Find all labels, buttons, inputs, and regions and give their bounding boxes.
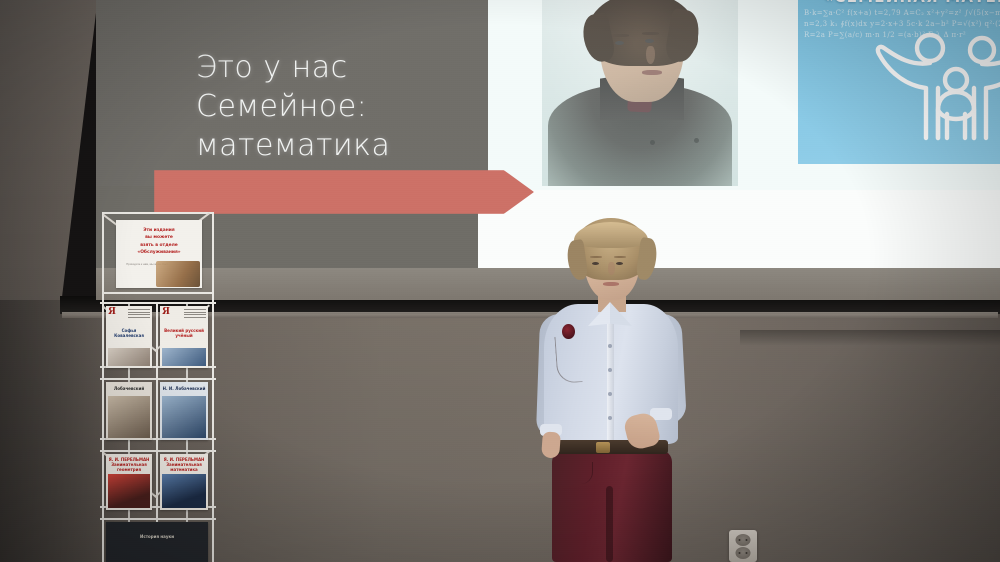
rack-sign-line-2: вы можете xyxy=(116,234,202,241)
presenter-shirt-placket xyxy=(607,318,614,444)
presenter-eye-left xyxy=(592,262,599,265)
presenter-shirt-button-2 xyxy=(608,368,612,372)
rack-rail-4 xyxy=(100,378,216,380)
rack-sign-text: Эти издания вы можете взять в отделе «Об… xyxy=(116,227,202,257)
presenter xyxy=(510,218,710,562)
blue-panel-heading: «СЕМЕЙНАЯ МАТЕМАТИКА» xyxy=(798,0,1000,6)
slide-title-line-2: Семейное: xyxy=(196,87,496,126)
brochure-image xyxy=(162,348,206,366)
brochure-item[interactable]: Я Великий русский учёный xyxy=(160,306,208,368)
brochure-title: Н. И. Лобачевский xyxy=(162,386,206,391)
brochure-image xyxy=(162,396,206,438)
brochure-image xyxy=(108,474,150,508)
rack-rail-8 xyxy=(100,518,216,520)
portrait-projection-wash xyxy=(542,0,738,186)
power-socket[interactable] xyxy=(729,530,757,562)
brochure-title: Лобачевский xyxy=(108,386,150,391)
brochure-text-lines xyxy=(184,309,206,319)
slide-title-line-1: Это у нас xyxy=(196,48,496,87)
rack-post-right xyxy=(212,212,214,562)
brochure-image xyxy=(162,474,206,508)
rack-rail-2 xyxy=(100,302,216,304)
rack-sign: Эти издания вы можете взять в отделе «Об… xyxy=(116,220,202,288)
slide-portrait-image xyxy=(542,0,738,186)
power-socket-bottom xyxy=(736,547,751,559)
presenter-mouth xyxy=(603,282,619,286)
brochure-rack[interactable]: Эти издания вы можете взять в отделе «Об… xyxy=(98,206,220,562)
presenter-brow-left xyxy=(590,256,602,258)
presenter-shirt-button-4 xyxy=(608,416,612,420)
socket-pin xyxy=(739,552,741,554)
presenter-eye-right xyxy=(616,262,623,265)
photo-scene: Это у нас Семейное: математика xyxy=(0,0,1000,562)
rack-sign-line-1: Эти издания xyxy=(116,227,202,234)
power-socket-top xyxy=(736,534,751,546)
rack-sign-books-image xyxy=(156,261,200,287)
brochure-title: Софья Ковалевская xyxy=(108,328,150,338)
presenter-belt-buckle xyxy=(596,442,610,453)
rack-post-mid xyxy=(156,302,158,552)
presenter-trouser-seam xyxy=(606,486,613,562)
slide-title-line-3: математика xyxy=(196,126,496,165)
brochure-title: Великий русский учёный xyxy=(162,328,206,338)
brochure-logo: Я xyxy=(162,308,170,316)
brochure-title: История науки xyxy=(108,534,206,539)
socket-pin xyxy=(745,539,747,541)
brochure-text-lines xyxy=(128,309,150,319)
rack-sign-line-4: «Обслуживания» xyxy=(116,249,202,256)
brochure-item[interactable]: Лобачевский xyxy=(106,382,152,440)
presenter-brooch xyxy=(562,324,575,339)
presenter-shirt-button-1 xyxy=(608,344,612,348)
rack-post-left xyxy=(102,212,104,562)
brochure-item[interactable]: История науки xyxy=(106,522,208,562)
rack-sign-line-3: взять в отделе xyxy=(116,242,202,249)
brochure-title: Я. И. ПЕРЕЛЬМАН Занимательная геометрия xyxy=(108,457,150,472)
presenter-nose xyxy=(608,262,615,275)
presenter-shirt-button-3 xyxy=(608,392,612,396)
slide-title: Это у нас Семейное: математика xyxy=(196,48,496,165)
ceiling-shadow xyxy=(740,330,1000,346)
socket-pin xyxy=(739,539,741,541)
rack-rail-6 xyxy=(100,450,216,452)
brochure-item[interactable]: Я. И. ПЕРЕЛЬМАН Занимательная геометрия xyxy=(106,454,152,510)
socket-pin xyxy=(745,552,747,554)
family-silhouette-icon xyxy=(868,18,1000,150)
brochure-item[interactable]: Н. И. Лобачевский xyxy=(160,382,208,440)
brochure-item[interactable]: Я. И. ПЕРЕЛЬМАН Занимательная математика xyxy=(160,454,208,510)
slide-blue-panel: «СЕМЕЙНАЯ МАТЕМАТИКА» B·k=∑a·C² f(x+a) t… xyxy=(798,0,1000,164)
brochure-image xyxy=(108,348,150,366)
brochure-image xyxy=(108,396,150,438)
rack-rail-top xyxy=(102,212,214,214)
brochure-logo: Я xyxy=(108,308,116,316)
rack-rail-1 xyxy=(102,292,214,294)
presenter-brow-right xyxy=(614,256,626,258)
presenter-trouser-pocket xyxy=(566,462,593,484)
brochure-title: Я. И. ПЕРЕЛЬМАН Занимательная математика xyxy=(162,457,206,472)
brochure-item[interactable]: Я Софья Ковалевская xyxy=(106,306,152,368)
